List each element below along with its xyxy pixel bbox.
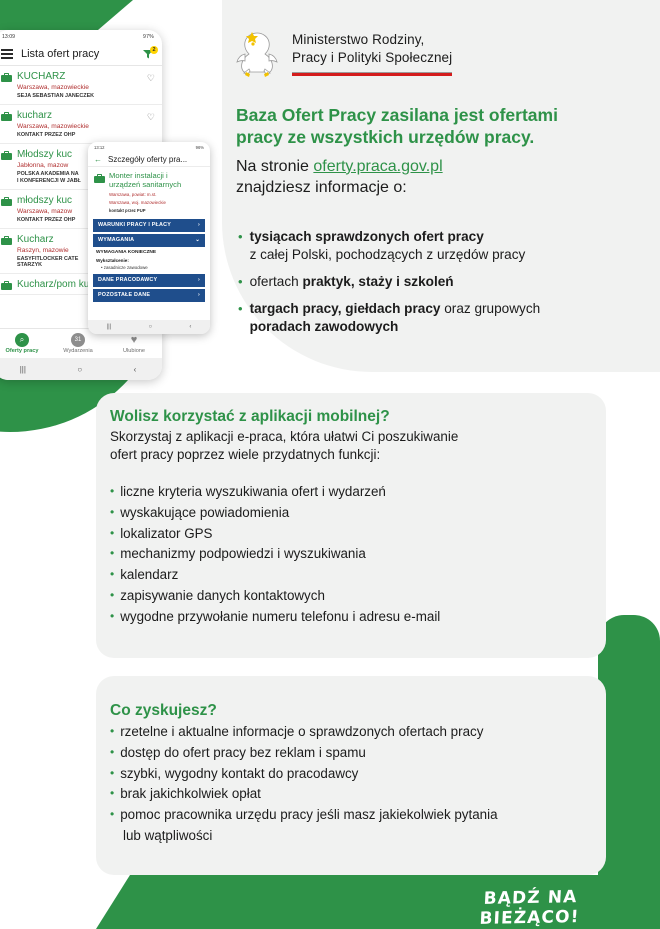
detail-screen-title: Szczegóły oferty pra... <box>108 155 187 164</box>
benefit-label: szybki, wygodny kontakt do pracodawcy <box>120 764 358 785</box>
bullet-dot-icon: • <box>110 607 114 628</box>
hero-bullet-1-pre: ofertach <box>250 274 303 289</box>
search-icon: ⌕ <box>15 333 29 347</box>
job-title: KUCHARZ <box>17 71 155 82</box>
requirements-subheading: Wykształcenie: <box>96 258 202 263</box>
job-location: Warszawa, mazowieckie <box>17 123 155 130</box>
list-item: •zapisywanie danych kontaktowych <box>110 586 590 607</box>
favorite-heart-icon[interactable]: ♡ <box>147 73 155 84</box>
bullet-dot-icon: • <box>110 565 114 586</box>
job-location: Warszawa, mazowieckie <box>17 84 155 91</box>
hero-bullet-2-line2: poradach zawodowych <box>250 319 399 334</box>
status-battery: 97% <box>143 34 154 40</box>
decorative-green-block-right <box>598 615 660 880</box>
job-employer: SEJA SEBASTIAN JANECZEK <box>17 93 155 100</box>
hero-bullet-0-line2: z całej Polski, pochodzących z urzędów p… <box>250 247 526 262</box>
list-item: •mechanizmy podpowiedzi i wyszukiwania <box>110 544 590 565</box>
feature-label: wygodne przywołanie numeru telefonu i ad… <box>120 607 440 628</box>
job-employer: KONTAKT PRZEZ OHP <box>17 132 155 139</box>
list-item: • tysiącach sprawdzonych ofert pracy z c… <box>238 228 638 264</box>
feature-label: mechanizmy podpowiedzi i wyszukiwania <box>120 544 366 565</box>
phone-detail-header: ← Szczegóły oferty pra... <box>88 152 210 167</box>
bullet-dot-icon: • <box>238 273 243 291</box>
accordion-label: WARUNKI PRACY I PŁACY <box>98 222 171 228</box>
calendar-day-number: 31 <box>75 337 82 343</box>
bullet-dot-icon: • <box>110 784 114 805</box>
accordion-section-employer-data[interactable]: DANE PRACODAWCY › <box>93 274 205 287</box>
benefit-label: dostęp do ofert pracy bez reklam i spamu <box>120 743 366 764</box>
hero-sub-suffix: znajdziesz informacje o: <box>236 178 636 199</box>
android-system-bar: ||| ○ ‹ <box>0 358 162 380</box>
back-icon[interactable]: ‹ <box>134 365 137 374</box>
flyer-canvas: BĄDŹ NA BIEŻĄCO! Ministerstwo Rodziny, P… <box>0 0 660 929</box>
ministry-logo: Ministerstwo Rodziny, Pracy i Polityki S… <box>234 27 452 79</box>
decorative-green-shape-top-left <box>0 0 140 30</box>
accordion-section-requirements[interactable]: WYMAGANIA ⌄ <box>93 234 205 247</box>
ministry-logo-rule <box>292 72 452 76</box>
benefits-heading: Co zyskujesz? <box>110 702 590 720</box>
chevron-right-icon: › <box>198 277 200 283</box>
list-item: • ofertach praktyk, staży i szkoleń <box>238 273 638 291</box>
offer-location-line2: Warszawa, woj. mazowieckie <box>109 200 181 206</box>
benefits-card-content: Co zyskujesz? •rzetelne i aktualne infor… <box>110 702 590 847</box>
mobile-app-card-intro: Wolisz korzystać z aplikacji mobilnej? S… <box>110 408 590 464</box>
bullet-dot-icon: • <box>238 300 243 336</box>
android-system-bar: ||| ○ ‹ <box>88 320 210 334</box>
phone-mockup-offer-detail: 13:12 96% ← Szczegóły oferty pra... Mont… <box>88 142 210 334</box>
list-item: •lokalizator GPS <box>110 524 590 545</box>
briefcase-icon <box>1 112 12 121</box>
chevron-right-icon: › <box>198 222 200 228</box>
recents-icon[interactable]: ||| <box>107 324 112 330</box>
list-item: •brak jakichkolwiek opłat <box>110 784 590 805</box>
portal-link[interactable]: oferty.praca.gov.pl <box>313 158 442 175</box>
chevron-down-icon: ⌄ <box>195 237 200 243</box>
nav-label: Wydarzenia <box>63 348 93 354</box>
mobile-app-para-line1: Skorzystaj z aplikacji e-praca, która uł… <box>110 428 590 446</box>
bullet-dot-icon: • <box>110 805 114 826</box>
phone-status-bar: 13:09 97% <box>0 30 162 43</box>
nav-label: Oferty pracy <box>6 348 39 354</box>
bullet-dot-icon: • <box>110 722 114 743</box>
favorite-heart-icon[interactable]: ♡ <box>147 112 155 123</box>
status-time: 13:09 <box>2 34 15 40</box>
hero-sub-prefix: Na stronie <box>236 158 313 175</box>
accordion-section-working-conditions[interactable]: WARUNKI PRACY I PŁACY › <box>93 219 205 232</box>
hero-bullet-2-bold: targach pracy, giełdach pracy <box>250 301 441 316</box>
nav-label: Ulubione <box>123 348 145 354</box>
app-screen-title: Lista ofert pracy <box>21 48 99 60</box>
list-item: •liczne kryteria wyszukiwania ofert i wy… <box>110 482 590 503</box>
home-icon[interactable]: ○ <box>77 365 82 374</box>
briefcase-icon <box>1 236 12 245</box>
offer-location-line1: Warszawa, powiat: m.st. <box>109 192 181 198</box>
accordion-label: POZOSTAŁE DANE <box>98 292 150 298</box>
briefcase-icon <box>1 73 12 82</box>
bullet-dot-icon: • <box>110 764 114 785</box>
accordion-section-other-data[interactable]: POZOSTAŁE DANE › <box>93 289 205 302</box>
bullet-dot-icon: • <box>110 743 114 764</box>
mobile-app-heading: Wolisz korzystać z aplikacji mobilnej? <box>110 408 590 426</box>
hero-bullet-list: • tysiącach sprawdzonych ofert pracy z c… <box>238 228 638 345</box>
job-title: kucharz <box>17 110 155 121</box>
hero-heading-line2: pracy ze wszystkich urzędów pracy. <box>236 126 636 148</box>
heart-icon: ♥ <box>127 333 141 347</box>
ministry-name-line1: Ministerstwo Rodziny, <box>292 31 452 49</box>
menu-icon[interactable] <box>1 47 13 61</box>
feature-label: zapisywanie danych kontaktowych <box>120 586 325 607</box>
benefit-label: pomoc pracownika urzędu pracy jeśli masz… <box>120 805 497 826</box>
briefcase-icon <box>1 151 12 160</box>
requirements-item: • zasadnicze zawodowe <box>96 265 202 270</box>
hero-bullet-0-bold: tysiącach sprawdzonych ofert pracy <box>250 229 484 244</box>
list-item: •wyskakujące powiadomienia <box>110 503 590 524</box>
requirements-heading: WYMAGANIA KONIECZNE <box>96 250 202 255</box>
list-item-continuation: lub wątpliwości <box>110 826 590 847</box>
feature-label: liczne kryteria wyszukiwania ofert i wyd… <box>120 482 386 503</box>
status-battery: 96% <box>196 145 204 150</box>
filter-badge: 2 <box>150 46 158 54</box>
mobile-app-para-line2: ofert pracy poprzez wiele przydatnych fu… <box>110 446 590 464</box>
feature-label: wyskakujące powiadomienia <box>120 503 289 524</box>
bullet-dot-icon: • <box>110 482 114 503</box>
home-icon[interactable]: ○ <box>149 324 153 330</box>
offer-summary: Monter instalacji i urządzeń sanitarnych… <box>88 167 210 217</box>
bullet-dot-icon: • <box>238 228 243 264</box>
arrow-left-icon[interactable]: ← <box>94 155 102 164</box>
footer-banner-text: BĄDŹ NA BIEŻĄCO! <box>429 886 631 929</box>
list-item: •kalendarz <box>110 565 590 586</box>
phone-detail-status-bar: 13:12 96% <box>88 142 210 152</box>
polish-eagle-emblem-icon <box>234 27 280 79</box>
feature-label: kalendarz <box>120 565 178 586</box>
ministry-name-line2: Pracy i Polityki Społecznej <box>292 49 452 67</box>
briefcase-icon <box>1 281 12 290</box>
list-item: •dostęp do ofert pracy bez reklam i spam… <box>110 743 590 764</box>
chevron-right-icon: › <box>198 292 200 298</box>
list-item: •szybki, wygodny kontakt do pracodawcy <box>110 764 590 785</box>
briefcase-icon <box>94 174 105 183</box>
offer-title-line2: urządzeń sanitarnych <box>109 181 181 190</box>
calendar-icon: 31 <box>71 333 85 347</box>
feature-label: lokalizator GPS <box>120 524 212 545</box>
requirements-body: WYMAGANIA KONIECZNE Wykształcenie: • zas… <box>88 247 210 272</box>
bullet-dot-icon: • <box>110 503 114 524</box>
hero-bullet-1-bold: praktyk, staży i szkoleń <box>302 274 453 289</box>
bullet-dot-icon: • <box>110 586 114 607</box>
accordion-label: DANE PRACODAWCY <box>98 277 157 283</box>
list-item[interactable]: KUCHARZ Warszawa, mazowieckie SEJA SEBAS… <box>0 66 162 105</box>
accordion-label: WYMAGANIA <box>98 237 134 243</box>
bullet-dot-icon: • <box>110 524 114 545</box>
nav-item-offers[interactable]: ⌕ Oferty pracy <box>0 329 50 358</box>
list-item[interactable]: kucharz Warszawa, mazowieckie KONTAKT PR… <box>0 105 162 144</box>
status-time: 13:12 <box>94 145 104 150</box>
hero-text-block: Baza Ofert Pracy zasilana jest ofertami … <box>236 104 636 198</box>
list-item: • targach pracy, giełdach pracy oraz gru… <box>238 300 638 336</box>
phone-app-header: Lista ofert pracy 2 <box>0 43 162 66</box>
benefit-label: rzetelne i aktualne informacje o sprawdz… <box>120 722 483 743</box>
benefit-label: brak jakichkolwiek opłat <box>120 784 261 805</box>
mobile-app-feature-list: •liczne kryteria wyszukiwania ofert i wy… <box>110 482 590 627</box>
list-item: •rzetelne i aktualne informacje o sprawd… <box>110 722 590 743</box>
back-icon[interactable]: ‹ <box>189 324 191 330</box>
hero-bullet-2-rest: oraz grupowych <box>440 301 540 316</box>
hero-heading-line1: Baza Ofert Pracy zasilana jest ofertami <box>236 104 636 126</box>
bullet-dot-icon: • <box>110 544 114 565</box>
offer-contact-note: kontakt przez PUP <box>109 208 181 213</box>
recents-icon[interactable]: ||| <box>20 365 26 374</box>
list-item: •pomoc pracownika urzędu pracy jeśli mas… <box>110 805 590 826</box>
benefit-label-continuation: lub wątpliwości <box>123 826 212 847</box>
briefcase-icon <box>1 197 12 206</box>
list-item: •wygodne przywołanie numeru telefonu i a… <box>110 607 590 628</box>
